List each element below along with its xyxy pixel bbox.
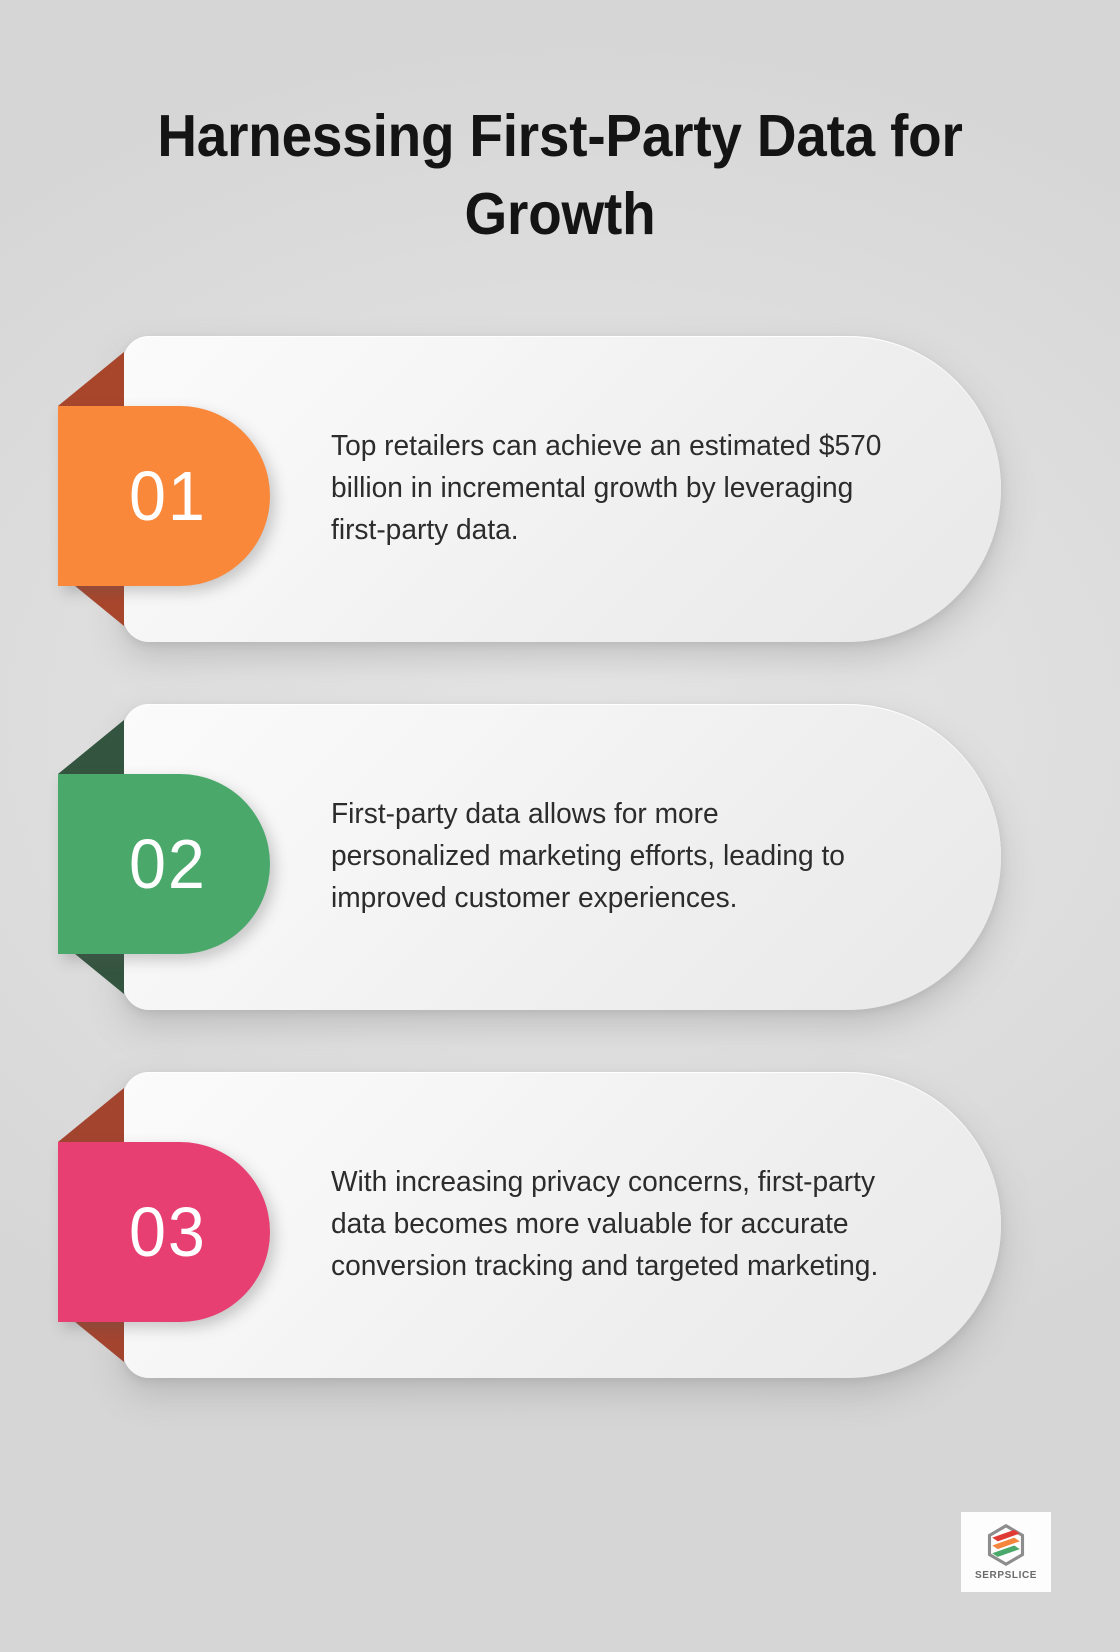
card-text-container: First-party data allows for more persona…	[331, 704, 901, 1010]
card-body-text: Top retailers can achieve an estimated $…	[331, 426, 884, 551]
cards-list: 01 Top retailers can achieve an estimate…	[0, 336, 1120, 1440]
card-text-container: With increasing privacy concerns, first-…	[331, 1072, 901, 1378]
card-text-container: Top retailers can achieve an estimated $…	[331, 336, 901, 642]
logo-wordmark: SERPSLICE	[975, 1570, 1037, 1581]
card-number-badge: 01	[58, 406, 270, 586]
serpslice-hexagon-icon	[984, 1523, 1028, 1567]
card-number-label: 01	[129, 461, 207, 531]
page-title: Harnessing First-Party Data for Growth	[95, 98, 1025, 254]
card-number-label: 02	[129, 829, 207, 899]
ribbon-fold-top-icon	[58, 1088, 124, 1142]
card-number-label: 03	[129, 1197, 207, 1267]
page-title-container: Harnessing First-Party Data for Growth	[60, 98, 1060, 254]
ribbon-fold-top-icon	[58, 720, 124, 774]
brand-logo: SERPSLICE	[961, 1512, 1051, 1592]
infographic-poster: Harnessing First-Party Data for Growth 0…	[0, 0, 1120, 1652]
list-item[interactable]: 01 Top retailers can achieve an estimate…	[0, 336, 1120, 642]
list-item[interactable]: 03 With increasing privacy concerns, fir…	[0, 1072, 1120, 1378]
card-body-text: First-party data allows for more persona…	[331, 794, 884, 919]
card-body-text: With increasing privacy concerns, first-…	[331, 1162, 884, 1287]
list-item[interactable]: 02 First-party data allows for more pers…	[0, 704, 1120, 1010]
card-number-badge: 03	[58, 1142, 270, 1322]
ribbon-fold-top-icon	[58, 352, 124, 406]
card-number-badge: 02	[58, 774, 270, 954]
